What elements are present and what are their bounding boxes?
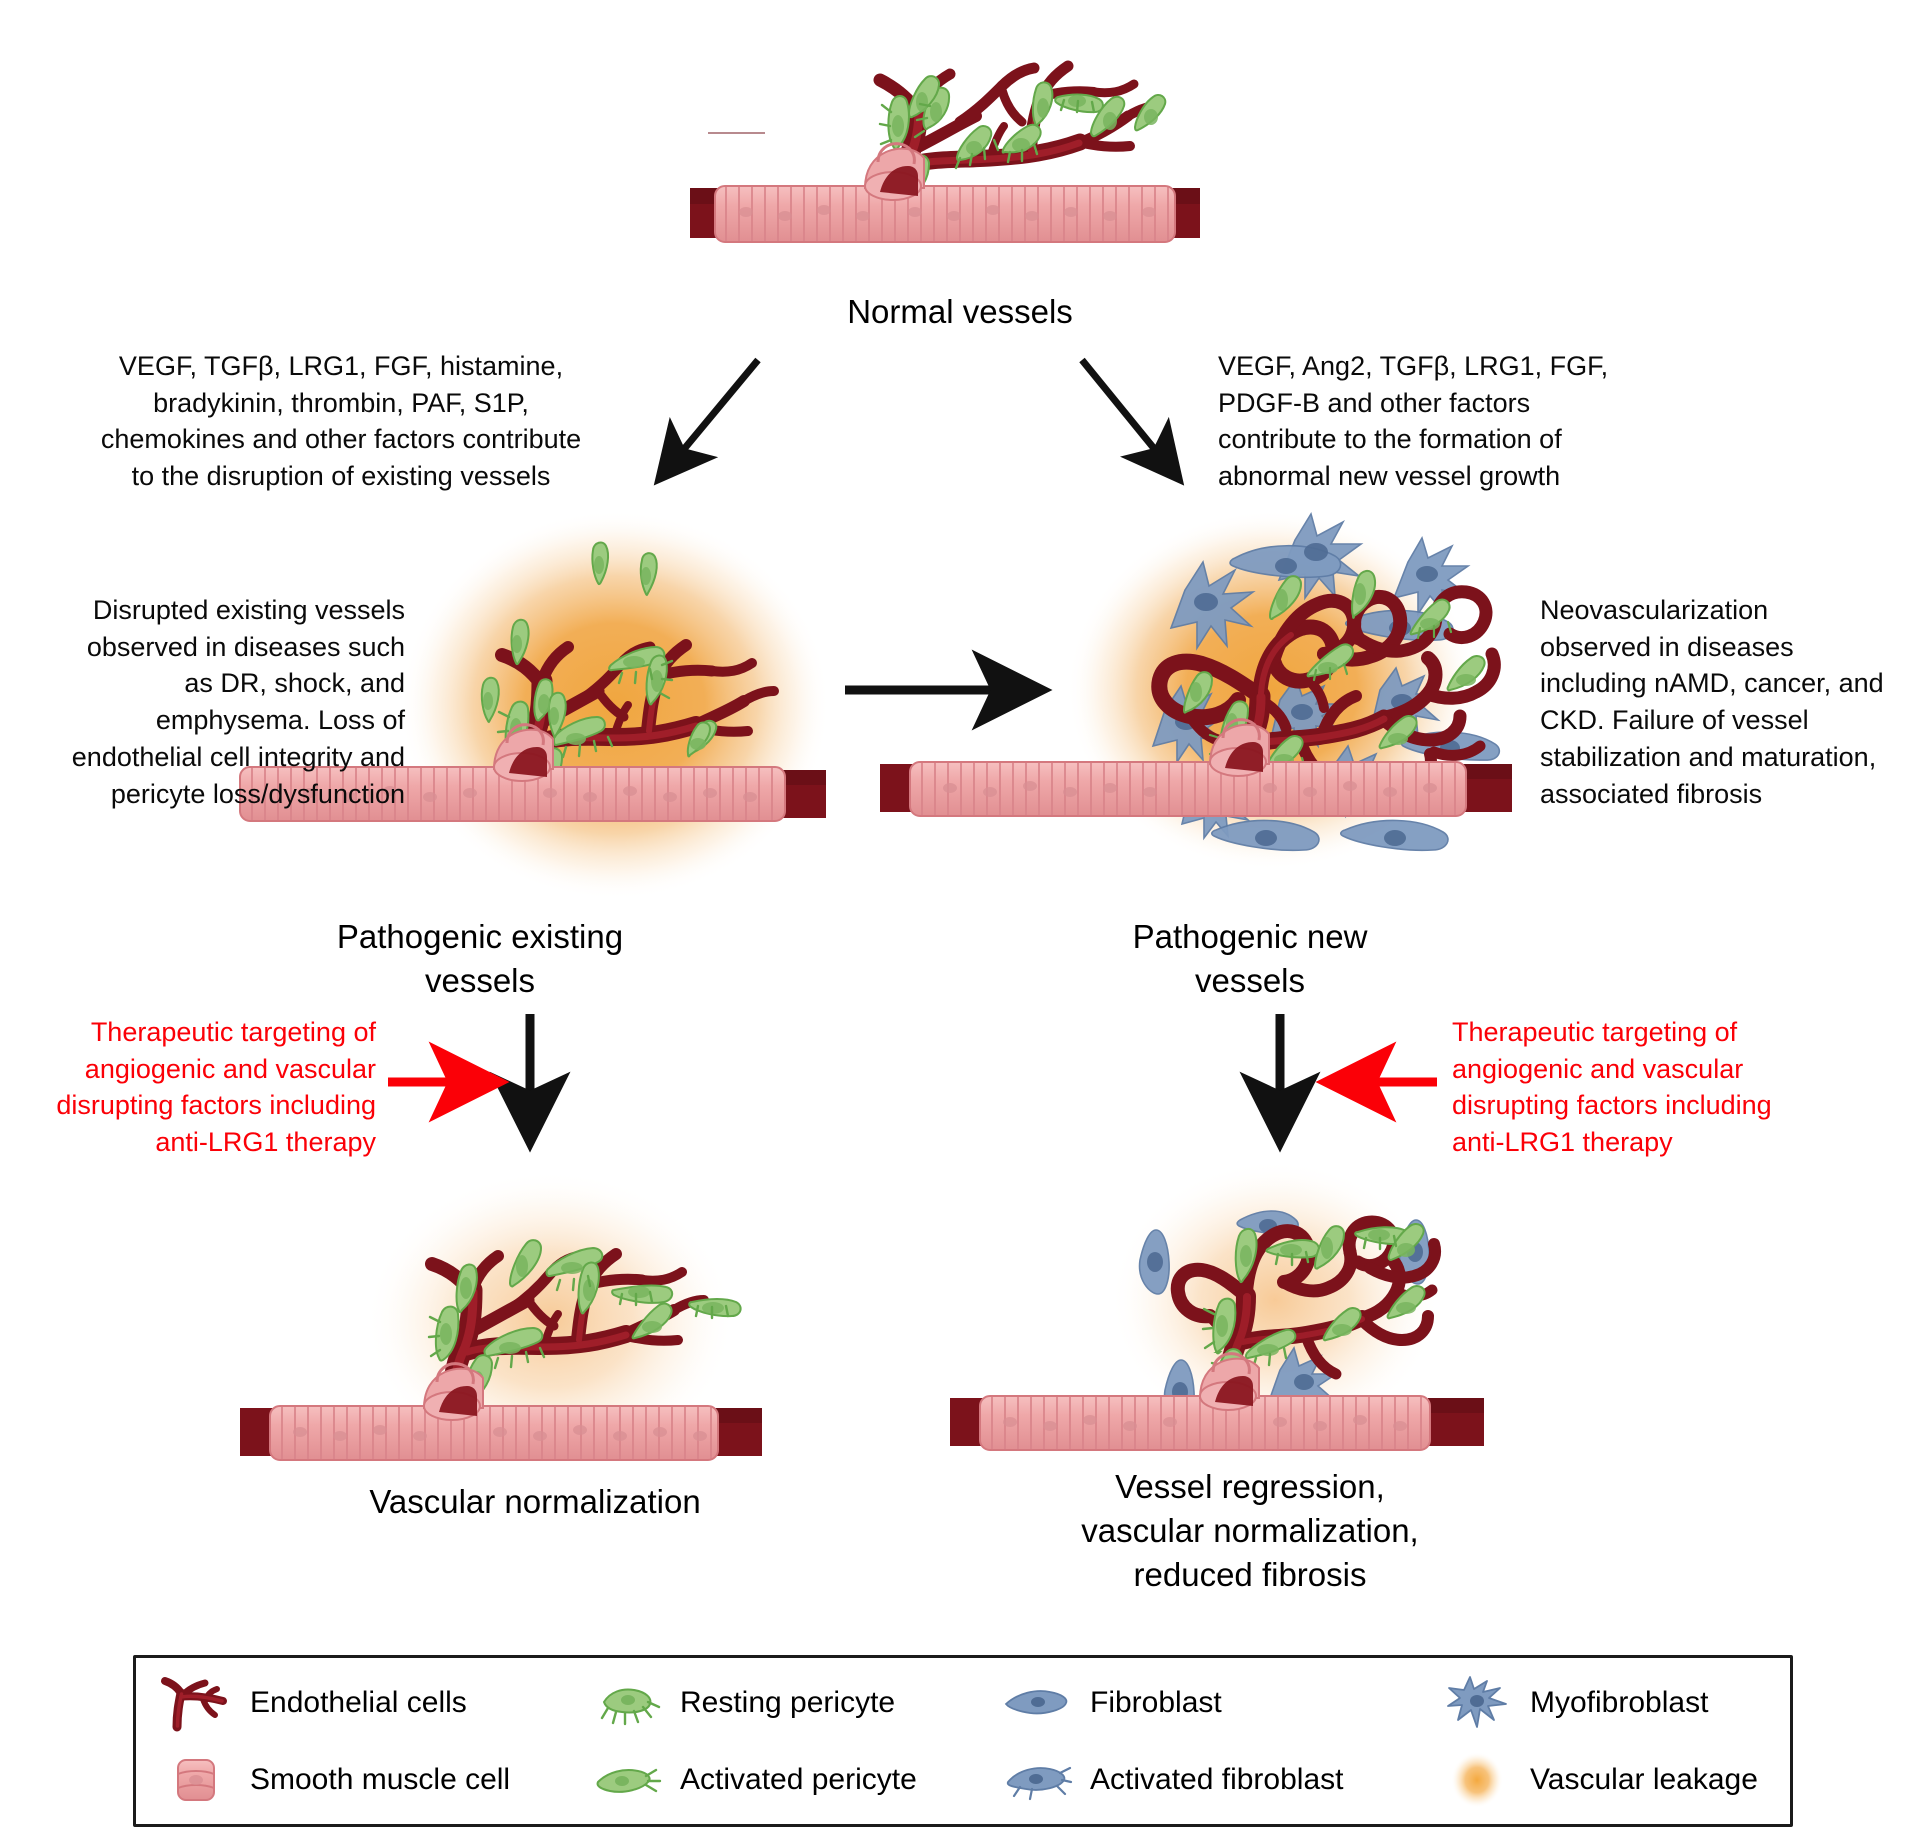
legend-label: Smooth muscle cell — [250, 1763, 510, 1797]
smooth-muscle-cell-icon — [158, 1752, 236, 1808]
label-pathogenic-new: Pathogenic new vessels — [1020, 915, 1480, 1003]
activated-fibroblast-icon — [998, 1752, 1076, 1808]
vascular-leakage-icon — [1438, 1752, 1516, 1808]
annotation-left-disease: Disrupted existing vessels observed in d… — [15, 592, 405, 812]
legend-item-vascular-leakage: Vascular leakage — [1438, 1752, 1818, 1808]
legend-item-fibroblast: Fibroblast — [998, 1675, 1438, 1731]
fibroblast-icon — [998, 1675, 1076, 1731]
legend-item-activated-fibroblast: Activated fibroblast — [998, 1752, 1438, 1808]
annotation-therapy-left: Therapeutic targeting of angiogenic and … — [0, 1014, 376, 1161]
annotation-right-disease: Neovascularization observed in diseases … — [1540, 592, 1920, 812]
legend-item-smooth-muscle-cell: Smooth muscle cell — [158, 1752, 588, 1808]
legend-item-activated-pericyte: Activated pericyte — [588, 1752, 998, 1808]
arrow-normal-to-new — [1082, 360, 1178, 478]
label-normal-vessels: Normal vessels — [660, 290, 1260, 334]
endothelial-cells-icon — [158, 1675, 236, 1731]
annotation-therapy-right: Therapeutic targeting of angiogenic and … — [1452, 1014, 1872, 1161]
legend-label: Activated fibroblast — [1090, 1763, 1343, 1797]
activated-pericyte-icon — [588, 1752, 666, 1808]
legend-item-endothelial-cells: Endothelial cells — [158, 1675, 588, 1731]
legend-label: Fibroblast — [1090, 1686, 1222, 1720]
legend-label: Endothelial cells — [250, 1686, 467, 1720]
legend-label: Activated pericyte — [680, 1763, 917, 1797]
legend-label: Myofibroblast — [1530, 1686, 1708, 1720]
arrow-therapy-right — [1300, 1062, 1440, 1102]
myofibroblast-icon — [1438, 1675, 1516, 1731]
label-vascular-normalization: Vascular normalization — [255, 1480, 815, 1524]
legend-label: Vascular leakage — [1530, 1763, 1758, 1797]
vessel-regression-illustration — [1040, 1140, 1500, 1490]
annotation-left-factors: VEGF, TGFβ, LRG1, FGF, histamine, bradyk… — [60, 348, 622, 495]
resting-pericyte-icon — [588, 1675, 666, 1731]
arrow-existing-to-new — [840, 660, 1070, 720]
legend-box: Endothelial cells Resting pericyte — [133, 1655, 1793, 1827]
pathogenic-new-vessels-illustration — [1010, 500, 1520, 915]
legend-item-myofibroblast: Myofibroblast — [1438, 1675, 1818, 1731]
legend-item-resting-pericyte: Resting pericyte — [588, 1675, 998, 1731]
label-vessel-regression: Vessel regression, vascular normalizatio… — [1000, 1465, 1500, 1597]
normal-vessels-illustration — [660, 0, 1260, 300]
label-pathogenic-existing: Pathogenic existing vessels — [250, 915, 710, 1003]
legend-label: Resting pericyte — [680, 1686, 895, 1720]
vascular-normalization-illustration — [300, 1160, 770, 1490]
arrow-normal-to-existing — [660, 360, 758, 478]
arrow-therapy-left — [385, 1062, 525, 1102]
annotation-right-factors: VEGF, Ang2, TGFβ, LRG1, FGF, PDGF-B and … — [1218, 348, 1738, 495]
pathogenic-existing-vessels-illustration — [370, 505, 840, 915]
